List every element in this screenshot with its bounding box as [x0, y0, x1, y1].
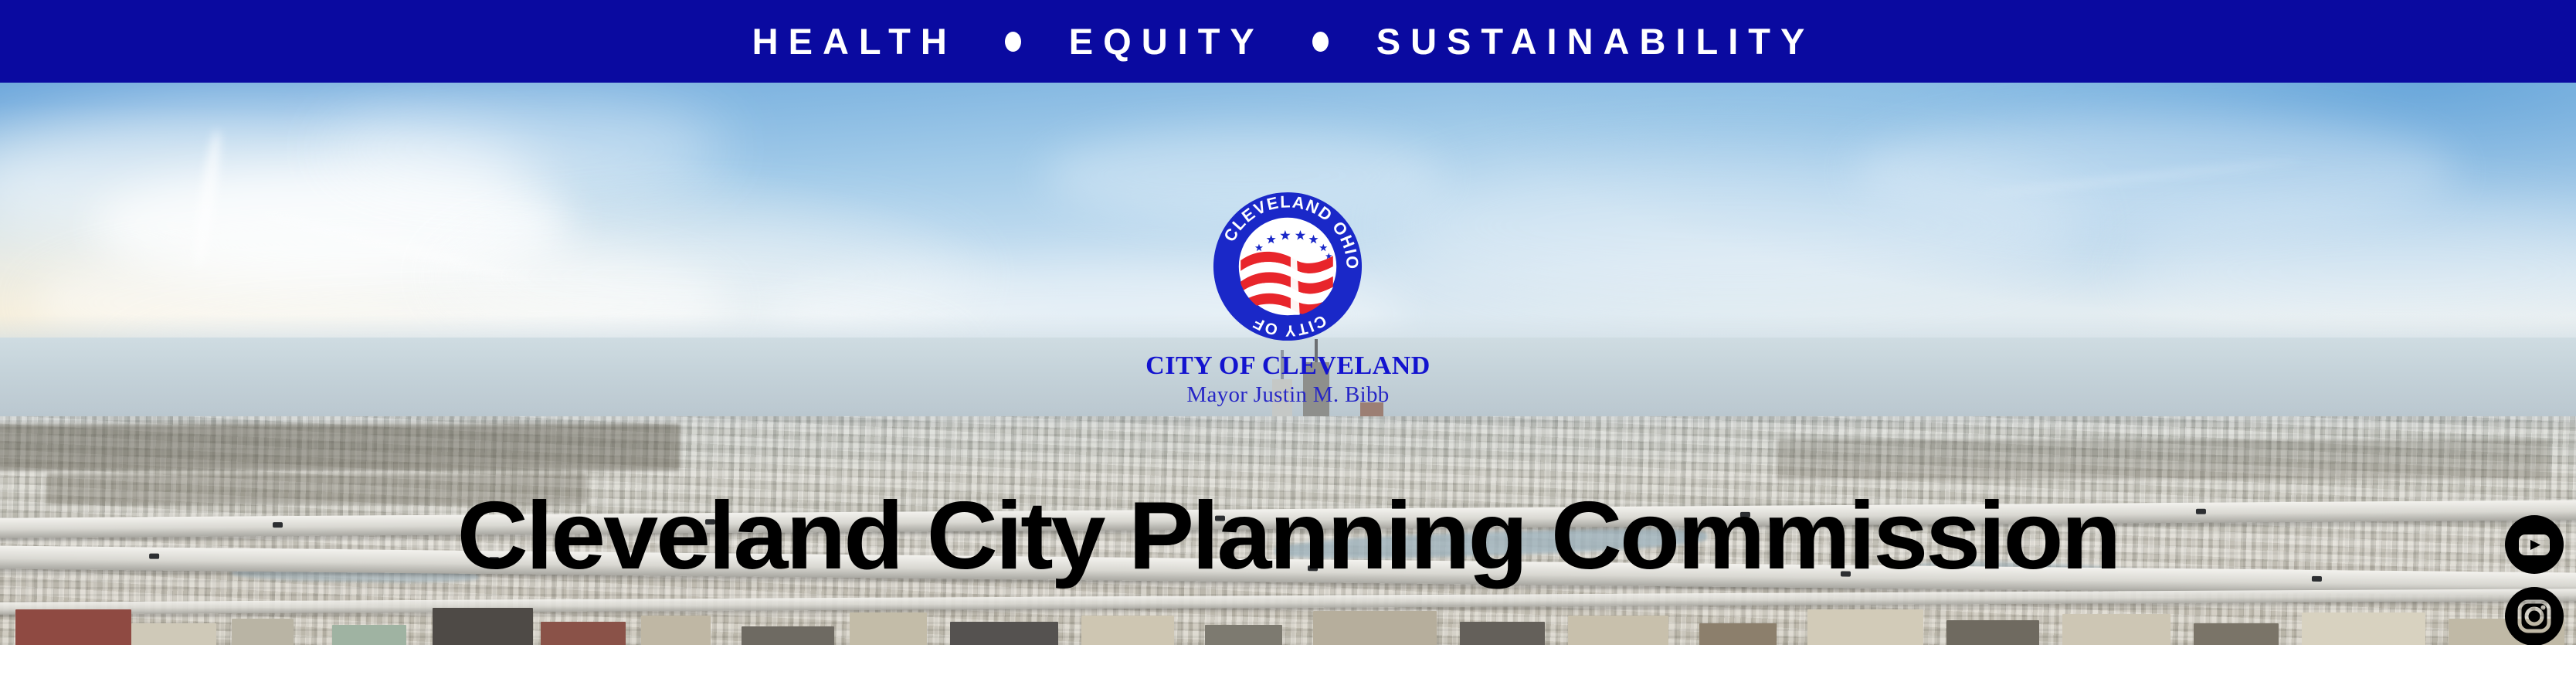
building-block — [1081, 616, 1174, 645]
page-title: Cleveland City Planning Commission — [0, 488, 2576, 584]
building-block — [332, 625, 406, 645]
mayor-label: Mayor Justin M. Bibb — [0, 384, 2576, 406]
building-block — [1460, 622, 1545, 645]
youtube-icon[interactable] — [2505, 515, 2564, 574]
building-block — [1946, 620, 2039, 645]
building-block — [1807, 609, 1923, 645]
building-block — [433, 608, 533, 645]
top-banner: HEALTH EQUITY SUSTAINABILITY — [0, 0, 2576, 83]
banner-word-equity: EQUITY — [1069, 23, 1264, 59]
building-block — [742, 626, 834, 645]
banner-bullet-dot-2 — [1312, 32, 1329, 52]
page-root: HEALTH EQUITY SUSTAINABILITY — [0, 0, 2576, 682]
cloud-3 — [324, 98, 726, 198]
instagram-icon[interactable] — [2505, 587, 2564, 645]
city-seal-graphic: CLEVELAND OHIO CITY OF — [1212, 191, 1363, 342]
building-block — [2194, 623, 2279, 645]
building-block — [1568, 616, 1668, 645]
building-block — [2302, 612, 2425, 645]
building-block — [15, 609, 131, 645]
hero-photo: CLEVELAND OHIO CITY OF — [0, 83, 2576, 645]
instagram-link[interactable] — [2505, 587, 2564, 645]
youtube-link[interactable] — [2505, 515, 2564, 574]
building-block — [850, 612, 927, 645]
building-block — [131, 623, 216, 645]
building-block — [950, 622, 1058, 645]
building-block — [232, 619, 294, 645]
tree-mass — [0, 424, 680, 470]
banner-word-health: HEALTH — [752, 23, 957, 59]
banner-word-sustainability: SUSTAINABILITY — [1376, 23, 1815, 59]
city-of-cleveland-label: CITY OF CLEVELAND — [0, 353, 2576, 379]
social-icon-list — [2505, 515, 2564, 645]
city-seal: CLEVELAND OHIO CITY OF — [1212, 191, 1363, 342]
tree-mass — [1777, 439, 2549, 480]
building-block — [2062, 614, 2170, 645]
banner-bullet-dot-1 — [1005, 32, 1021, 52]
building-block — [641, 616, 711, 645]
building-block — [1205, 625, 1282, 645]
top-banner-inner: HEALTH EQUITY SUSTAINABILITY — [752, 23, 1815, 59]
building-block — [1699, 623, 1777, 645]
building-block — [541, 622, 626, 645]
footer-whitespace — [0, 645, 2576, 682]
building-block — [1313, 611, 1437, 645]
